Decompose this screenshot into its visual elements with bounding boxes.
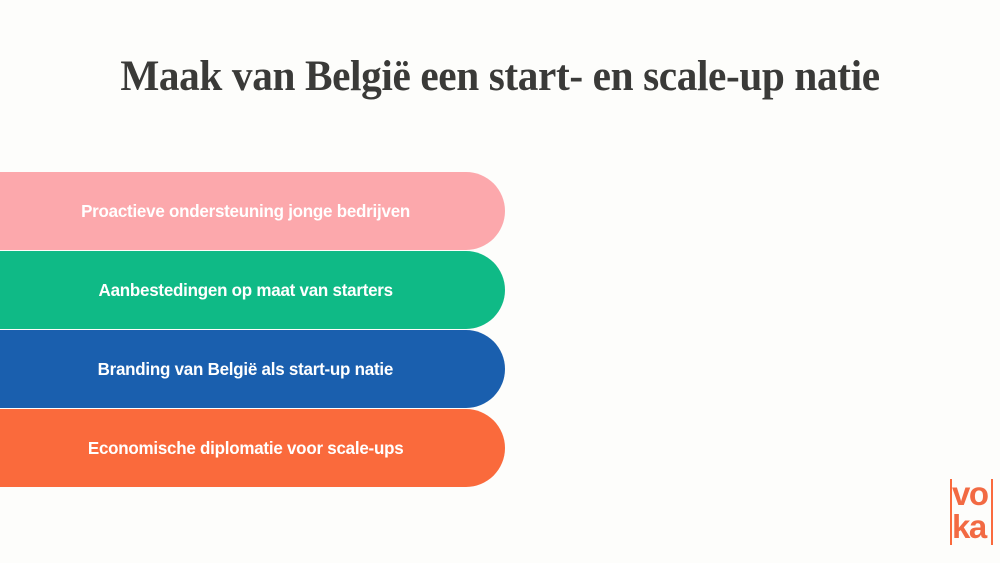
voka-logo-line-1: vo	[952, 477, 992, 510]
voka-logo-wordmark: vo ka	[952, 477, 992, 543]
bar-label-4: Economische diplomatie voor scale-ups	[88, 438, 404, 459]
list-item-bar-3[interactable]: Branding van België als start-up natie	[0, 330, 505, 408]
bar-label-1: Proactieve ondersteuning jonge bedrijven	[81, 201, 410, 222]
list-item-bar-1[interactable]: Proactieve ondersteuning jonge bedrijven	[0, 172, 505, 250]
voka-logo-line-2: ka	[952, 510, 992, 543]
bar-label-2: Aanbestedingen op maat van starters	[98, 280, 392, 301]
voka-logo: vo ka	[944, 479, 1000, 545]
slide-canvas: Maak van België een start- en scale-up n…	[0, 0, 1000, 563]
priority-bar-list: Proactieve ondersteuning jonge bedrijven…	[0, 172, 505, 487]
page-title: Maak van België een start- en scale-up n…	[20, 52, 980, 101]
bar-label-3: Branding van België als start-up natie	[98, 359, 393, 380]
list-item-bar-2[interactable]: Aanbestedingen op maat van starters	[0, 251, 505, 329]
list-item-bar-4[interactable]: Economische diplomatie voor scale-ups	[0, 409, 505, 487]
